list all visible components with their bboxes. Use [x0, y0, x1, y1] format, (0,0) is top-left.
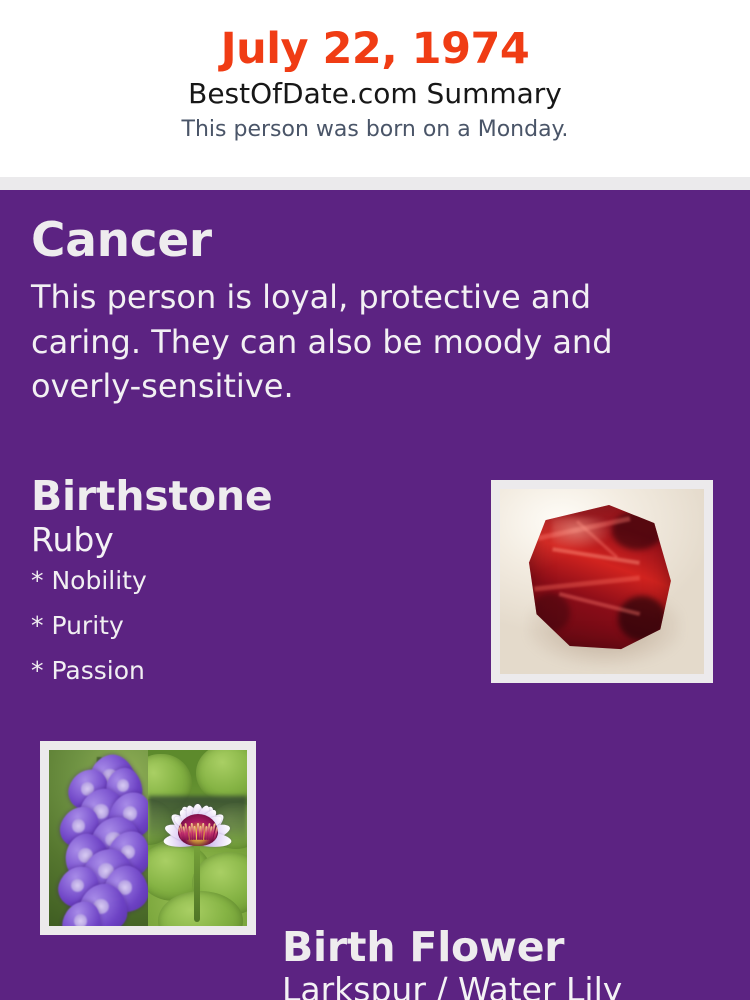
birth-flower-image-frame [40, 741, 256, 935]
birthstone-section: Birthstone Ruby * Nobility * Purity * Pa… [31, 474, 461, 703]
card-header: July 22, 1974 BestOfDate.com Summary Thi… [0, 0, 750, 177]
water-lily-stem [194, 834, 200, 922]
birth-flower-name: Larkspur / Water Lily [282, 970, 722, 1000]
birthstone-image [500, 489, 704, 674]
flower-photo-pair [49, 750, 247, 926]
list-item: * Passion [31, 658, 461, 683]
water-lily-center [178, 814, 218, 846]
ruby-highlight [552, 517, 612, 550]
site-summary-label: BestOfDate.com Summary [0, 76, 750, 113]
birth-flower-section: Birth Flower Larkspur / Water Lily * Pos… [282, 925, 722, 1000]
ruby-dark-zone [612, 511, 663, 550]
birthstone-title: Birthstone [31, 474, 461, 518]
ruby-photo [500, 489, 704, 674]
ruby-facet-line [534, 575, 640, 591]
page-title-date: July 22, 1974 [0, 26, 750, 72]
birth-flower-image [49, 750, 247, 926]
water-lily-photo [148, 750, 247, 926]
larkspur-bloom-center [72, 819, 85, 833]
zodiac-sign-name: Cancer [31, 216, 671, 266]
larkspur-bloom-center [117, 779, 129, 791]
list-item: * Nobility [31, 568, 461, 593]
zodiac-section: Cancer This person is loyal, protective … [31, 216, 671, 409]
summary-card: July 22, 1974 BestOfDate.com Summary Thi… [0, 0, 750, 1000]
list-item: * Purity [31, 613, 461, 638]
born-day-note: This person was born on a Monday. [0, 116, 750, 145]
larkspur-photo [49, 750, 148, 926]
birthstone-name: Ruby [31, 520, 461, 561]
larkspur-bloom-center [74, 914, 87, 926]
birth-flower-title: Birth Flower [282, 925, 722, 969]
header-divider [0, 177, 750, 190]
birthstone-image-frame [491, 480, 713, 683]
zodiac-description: This person is loyal, protective and car… [31, 275, 646, 409]
birthstone-trait-list: * Nobility * Purity * Passion [31, 568, 461, 683]
